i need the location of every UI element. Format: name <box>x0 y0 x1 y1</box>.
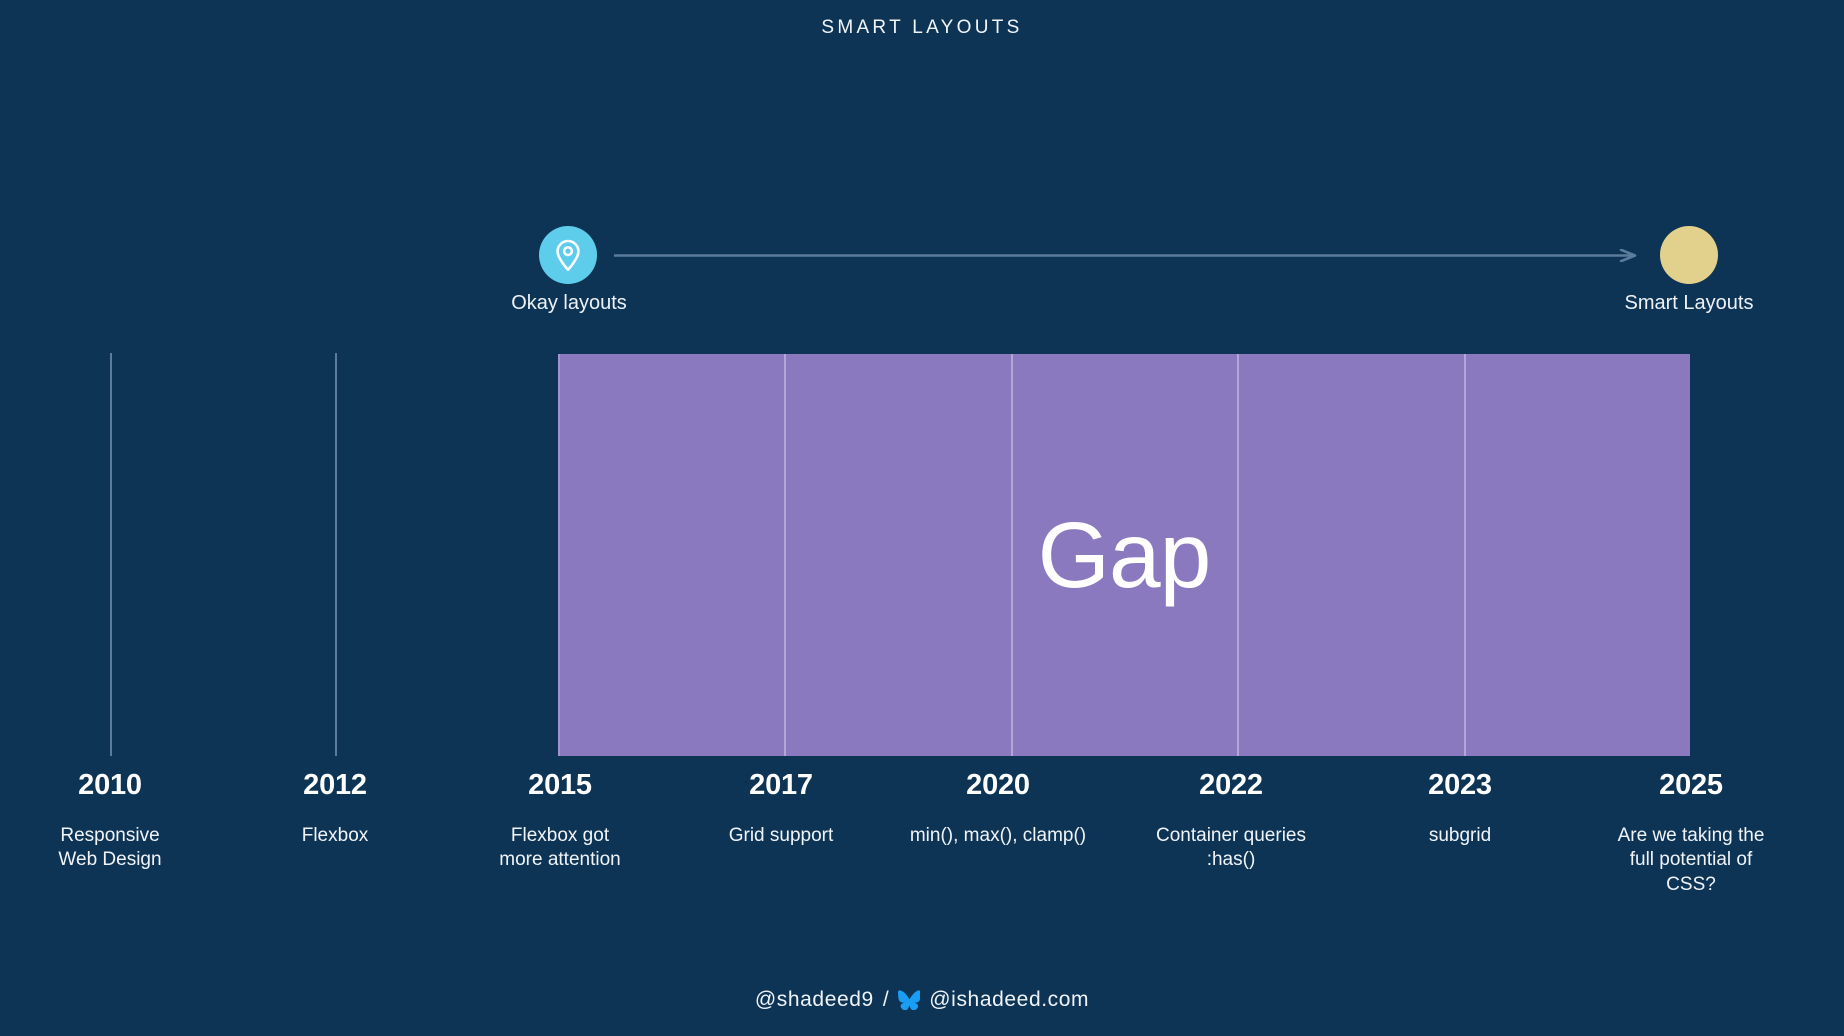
gap-block: Gap <box>558 354 1690 756</box>
timeline-column-2020: 2020min(), max(), clamp() <box>885 770 1111 848</box>
tick-line-2010 <box>110 353 112 756</box>
timeline-year-label: 2020 <box>885 770 1111 802</box>
timeline-year-label: 2025 <box>1577 770 1805 802</box>
journey-end-marker <box>1660 226 1718 284</box>
journey-end-label: Smart Layouts <box>1589 292 1789 315</box>
journey-start-label: Okay layouts <box>469 292 669 315</box>
gap-cell <box>1011 354 1237 756</box>
timeline-description: Flexbox got more attention <box>450 824 670 873</box>
timeline-column-2022: 2022Container queries :has() <box>1118 770 1344 873</box>
gap-cell <box>558 354 784 756</box>
timeline-description: Responsive Web Design <box>0 824 220 873</box>
twitter-handle[interactable]: @shadeed9 <box>755 988 874 1012</box>
timeline-description: Flexbox <box>225 824 445 848</box>
timeline-description: Container queries :has() <box>1118 824 1344 873</box>
timeline-description: Grid support <box>671 824 891 848</box>
tick-line-2012 <box>335 353 337 756</box>
timeline-description: min(), max(), clamp() <box>885 824 1111 848</box>
butterfly-icon <box>898 990 920 1010</box>
timeline-description: Are we taking the full potential of CSS? <box>1577 824 1805 897</box>
footer: @shadeed9 / @ishadeed.com <box>0 988 1844 1012</box>
page-title: SMART LAYOUTS <box>0 17 1844 39</box>
footer-separator: / <box>883 988 889 1012</box>
journey-start-marker <box>539 226 597 284</box>
timeline-year-label: 2017 <box>671 770 891 802</box>
timeline-year-label: 2023 <box>1350 770 1570 802</box>
timeline-column-2015: 2015Flexbox got more attention <box>450 770 670 873</box>
bluesky-handle[interactable]: @ishadeed.com <box>929 988 1089 1012</box>
timeline-description: subgrid <box>1350 824 1570 848</box>
timeline-axis: 2010Responsive Web Design2012Flexbox2015… <box>0 770 1844 920</box>
gap-cell <box>784 354 1010 756</box>
timeline-column-2010: 2010Responsive Web Design <box>0 770 220 873</box>
timeline-year-label: 2012 <box>225 770 445 802</box>
timeline-year-label: 2010 <box>0 770 220 802</box>
timeline-column-2023: 2023subgrid <box>1350 770 1570 848</box>
gap-cell <box>1237 354 1463 756</box>
timeline-column-2025: 2025Are we taking the full potential of … <box>1577 770 1805 897</box>
timeline-column-2012: 2012Flexbox <box>225 770 445 848</box>
timeline-column-2017: 2017Grid support <box>671 770 891 848</box>
journey-arrow <box>614 249 1644 262</box>
timeline-year-label: 2022 <box>1118 770 1344 802</box>
map-pin-icon <box>553 238 583 272</box>
slide-root: SMART LAYOUTS Okay layouts Smart Layouts <box>0 0 1844 1036</box>
timeline-year-label: 2015 <box>450 770 670 802</box>
gap-cell <box>1464 354 1690 756</box>
